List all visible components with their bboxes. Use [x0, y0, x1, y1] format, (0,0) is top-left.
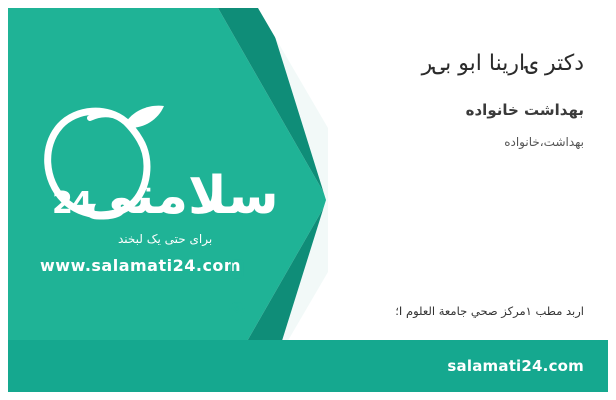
logo-tagline: برای حتی یک لبخند: [118, 232, 212, 246]
card-content: دكتر ۍارينا ابو بۍر بهداشت خانواده بهداش…: [224, 32, 584, 149]
doctor-specialty: بهداشت خانواده: [224, 101, 584, 119]
logo-brand-number: 24: [52, 186, 92, 221]
phone-row[interactable]: [224, 256, 584, 282]
card-frame: سلامتی 24 برای حتی یک لبخند www.salamati…: [8, 8, 608, 392]
logo-url: www.salamati24.com: [40, 256, 241, 275]
business-card: سلامتی 24 برای حتی یک لبخند www.salamati…: [0, 0, 616, 400]
address-text: اربد مطب ١مركز صحي جامعة العلوم I؛: [260, 303, 584, 319]
phone-icon: [224, 256, 250, 282]
brand-logo: سلامتی 24 برای حتی یک لبخند www.salamati…: [26, 104, 236, 274]
logo-brand-script: سلامتی: [82, 170, 279, 222]
doctor-name: دكتر ۍارينا ابو بۍر: [224, 50, 584, 79]
address-row[interactable]: اربد مطب ١مركز صحي جامعة العلوم I؛: [224, 298, 584, 324]
phone-text: [260, 262, 584, 276]
contact-info: اربد مطب ١مركز صحي جامعة العلوم I؛: [224, 256, 584, 340]
footer-site[interactable]: salamati24.com: [447, 340, 584, 392]
footer-bar: salamati24.com: [8, 340, 608, 392]
doctor-specialty-sub: بهداشت،خانواده: [224, 135, 584, 149]
location-pin-icon: [224, 298, 250, 324]
